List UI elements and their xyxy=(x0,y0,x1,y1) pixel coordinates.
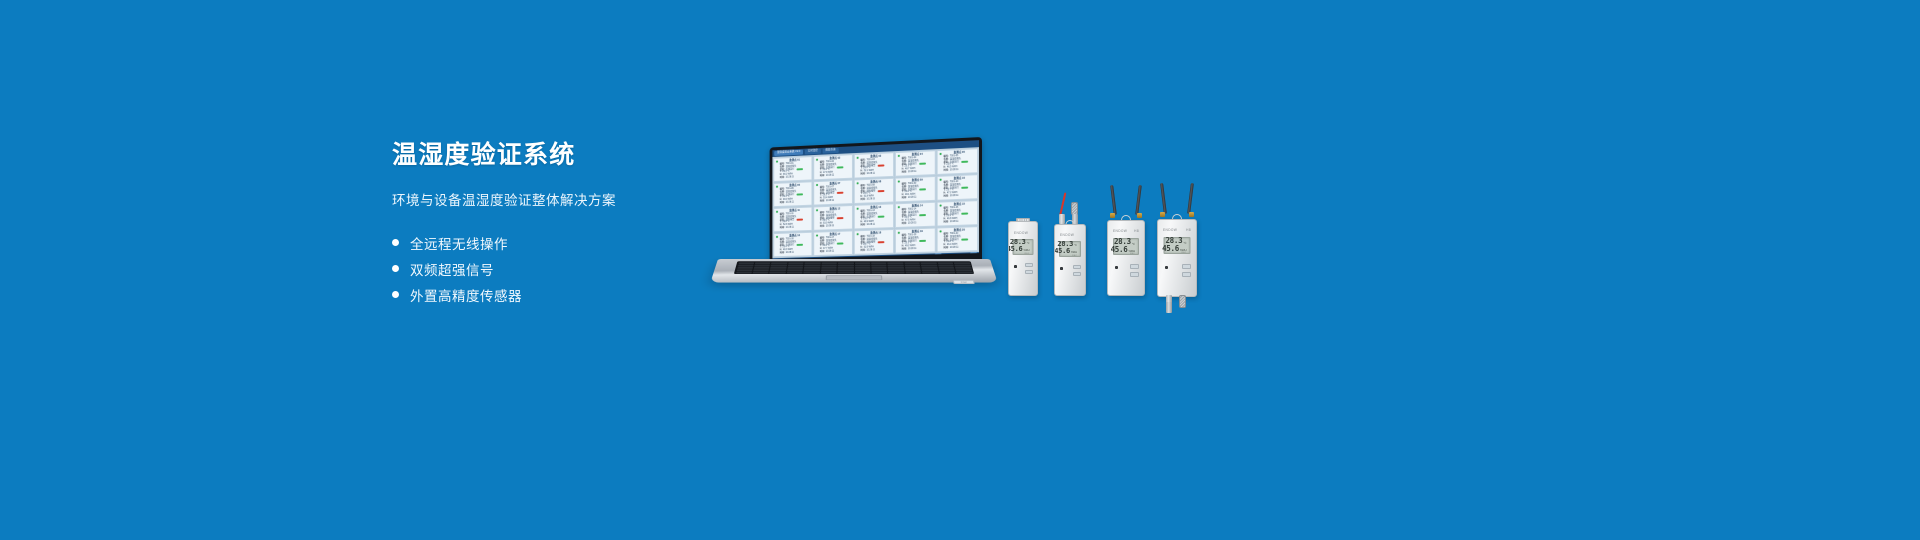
card-status-led-icon xyxy=(776,236,778,238)
laptop-spec-badge: Intel xyxy=(953,280,975,284)
keyboard-key[interactable] xyxy=(821,271,837,273)
lcd-humidity-value: 45.6 xyxy=(1111,246,1128,254)
sensor-field-label: 时间: xyxy=(780,202,785,205)
keyboard-key[interactable] xyxy=(753,271,769,273)
sensor-field-label: 时间: xyxy=(902,197,907,200)
antenna-right-icon xyxy=(1135,185,1142,215)
sensor-field-value: 10:28:11 xyxy=(786,227,794,230)
card-status-led-icon xyxy=(856,157,858,159)
sensor-card-row: 时间:10:28:11 xyxy=(780,226,810,230)
tab-realtime-monitor[interactable]: 实时监控 xyxy=(805,149,821,154)
page-title: 温湿度验证系统 xyxy=(392,140,722,171)
probe-cable-icon xyxy=(1059,192,1066,216)
keyboard-key[interactable] xyxy=(939,271,955,273)
sensor-field-value: 10:28:11 xyxy=(867,198,875,201)
keyboard-key[interactable] xyxy=(956,271,972,273)
card-status-led-icon xyxy=(776,211,778,213)
sensor-card[interactable]: 监测点 12编号:T001-12名称:温湿度探头状态:超限报警T:29.0 ℃H… xyxy=(813,205,853,231)
sensor-card-row: 时间:10:28:11 xyxy=(861,198,892,202)
sensor-field-value: 10:28:11 xyxy=(908,197,917,200)
device-button-down[interactable] xyxy=(1130,272,1139,277)
status-badge-alarm xyxy=(796,218,803,220)
laptop-trackpad[interactable] xyxy=(826,275,883,280)
feature-label: 双频超强信号 xyxy=(410,259,494,279)
laptop-product-image: 温湿度验证系统 V2.0 实时监控 数据查询 监测点 01编号:T001-01名… xyxy=(718,137,990,299)
status-badge-ok xyxy=(836,242,843,244)
antenna-left-icon xyxy=(1160,183,1167,214)
lcd-footer-label: REC xyxy=(1167,252,1187,254)
status-badge-ok xyxy=(836,166,843,168)
card-status-led-icon xyxy=(816,184,818,186)
sensor-field-value: 10:28:11 xyxy=(867,249,875,252)
sensor-field-label: 时间: xyxy=(861,173,866,176)
card-status-led-icon xyxy=(856,208,858,210)
status-badge-alarm xyxy=(877,190,884,192)
sensor-field-label: 时间: xyxy=(780,227,785,230)
sensor-field-value: 10:28:11 xyxy=(786,176,794,179)
sensor-card-grid: 监测点 01编号:T001-01名称:温湿度探头状态:在线运行T:23.4 ℃H… xyxy=(772,147,979,258)
sensor-field-label: 时间: xyxy=(861,250,866,253)
sensor-card-row: 时间:10:28:11 xyxy=(944,246,976,250)
sensor-field-label: 时间: xyxy=(861,199,866,202)
sensor-field-label: 时间: xyxy=(861,224,866,227)
lcd-footer-label: REC xyxy=(1116,253,1135,255)
device-button-down[interactable] xyxy=(1182,272,1191,277)
sensor-card-row: 时间:10:28:11 xyxy=(780,251,810,255)
sensor-card-row: 时间:10:28:11 xyxy=(820,199,850,203)
lcd-humidity-value: 45.6 xyxy=(1054,248,1070,255)
laptop-base: Intel xyxy=(710,259,997,283)
sensor-card[interactable]: 监测点 09编号:T001-09名称:温湿度探头状态:在线运行T:23.0 ℃H… xyxy=(895,176,936,202)
laptop-keyboard[interactable] xyxy=(734,261,974,274)
status-badge-ok xyxy=(961,186,968,188)
sensor-field-value: 10:28:11 xyxy=(908,248,917,251)
sensor-field-value: 10:28:11 xyxy=(867,173,875,176)
status-badge-ok xyxy=(961,238,968,240)
sensor-field-value: 10:28:11 xyxy=(950,221,959,224)
card-status-led-icon xyxy=(856,233,858,235)
sensor-card[interactable]: 监测点 08编号:T001-08名称:温湿度探头状态:超限报警T:28.5 ℃H… xyxy=(854,178,894,204)
sensor-field-label: 时间: xyxy=(944,221,949,224)
card-status-led-icon xyxy=(939,205,941,207)
card-status-led-icon xyxy=(897,181,899,183)
keyboard-key[interactable] xyxy=(905,271,921,273)
sensor-card[interactable]: 监测点 18编号:T001-18名称:温湿度探头状态:超限报警T:28.7 ℃H… xyxy=(854,229,894,255)
keyboard-key[interactable] xyxy=(736,271,752,273)
sensor-card-row: 时间:10:28:11 xyxy=(902,170,933,174)
sensor-card[interactable]: 监测点 16编号:T001-16名称:温湿度探头状态:在线运行T:23.4 ℃H… xyxy=(773,232,812,257)
sensor-card[interactable]: 监测点 11编号:T001-11名称:温湿度探头状态:超限报警T:28.8 ℃H… xyxy=(773,207,812,233)
device-button-up[interactable] xyxy=(1182,264,1191,269)
sensor-card[interactable]: 监测点 19编号:T001-19名称:温湿度探头状态:在线运行T:23.1 ℃H… xyxy=(895,228,936,254)
device-logger-external-probe: ENDOW 28.3 ℃ 45.6 %RH REC xyxy=(1053,192,1087,296)
device-wireless-logger-1: ENDOW H8 28.3 ℃ 45.6 %RH REC xyxy=(1105,185,1147,296)
sensor-card-row: 时间:10:28:11 xyxy=(861,223,892,227)
sensor-field-label: 时间: xyxy=(902,248,907,251)
device-brand-left: ENDOW xyxy=(1014,231,1028,235)
card-status-led-icon xyxy=(897,232,899,234)
product-banner: 温湿度验证系统 环境与设备温湿度验证整体解决方案 全远程无线操作 双频超强信号 … xyxy=(0,0,1920,540)
sensor-field-value: 10:28:11 xyxy=(826,200,834,203)
sensor-field-value: 10:28:11 xyxy=(826,251,834,254)
sensor-card-row: 时间:10:28:11 xyxy=(820,250,850,254)
sensor-field-value: 10:28:11 xyxy=(950,169,959,172)
list-item: 全远程无线操作 xyxy=(392,230,722,255)
page-subtitle: 环境与设备温湿度验证整体解决方案 xyxy=(392,189,722,209)
status-badge-ok xyxy=(961,212,968,214)
sensor-field-value: 10:28:11 xyxy=(786,202,794,205)
sensor-card[interactable]: 监测点 03编号:T001-03名称:温湿度探头状态:超限报警T:28.9 ℃H… xyxy=(854,152,894,178)
probe-connector-icon xyxy=(1059,214,1065,224)
device-button-down[interactable] xyxy=(1073,272,1081,276)
lcd-humidity-value: 45.6 xyxy=(1008,246,1022,253)
sensor-field-label: 时间: xyxy=(820,200,825,203)
keyboard-key[interactable] xyxy=(787,271,803,273)
antenna-left-icon xyxy=(1110,185,1117,215)
device-lcd-display: 28.3 ℃ 45.6 %RH REC xyxy=(1113,238,1139,255)
status-badge-ok xyxy=(919,240,926,242)
sensor-card[interactable]: 监测点 07编号:T001-07名称:温湿度探头状态:超限报警T:29.2 ℃H… xyxy=(813,180,853,206)
device-lcd-display: 28.3 ℃ 45.6 %RH REC xyxy=(1164,237,1191,254)
feature-label: 外置高精度传感器 xyxy=(410,285,522,305)
status-badge-ok xyxy=(796,193,803,195)
sensor-card[interactable]: 监测点 01编号:T001-01名称:温湿度探头状态:在线运行T:23.4 ℃H… xyxy=(773,156,812,182)
sensor-card-row: 时间:10:28:11 xyxy=(944,220,976,224)
sensor-field-value: 10:28:11 xyxy=(826,175,834,178)
sensor-field-value: 10:28:11 xyxy=(786,252,794,255)
sensor-field-value: 10:28:11 xyxy=(867,224,875,227)
sensor-card-row: 时间:10:28:11 xyxy=(902,222,933,226)
status-badge-ok xyxy=(796,168,803,170)
device-brand-left: ENDOW xyxy=(1113,229,1127,233)
device-button-up[interactable] xyxy=(1025,263,1033,267)
antenna-right-icon xyxy=(1187,183,1194,214)
sensor-card-row: 时间:10:28:11 xyxy=(820,225,850,229)
sensor-field-value: 10:28:11 xyxy=(908,222,917,225)
keyboard-key[interactable] xyxy=(838,271,854,273)
device-status-led-icon xyxy=(1165,266,1168,269)
card-status-led-icon xyxy=(776,186,778,188)
status-badge-ok xyxy=(919,162,926,164)
card-status-led-icon xyxy=(897,155,899,157)
lcd-footer-label: REC xyxy=(1062,255,1077,257)
sensor-field-label: 时间: xyxy=(780,177,785,180)
keyboard-key[interactable] xyxy=(855,271,871,273)
keyboard-key[interactable] xyxy=(888,271,904,273)
card-status-led-icon xyxy=(816,159,818,161)
sensor-card[interactable]: 监测点 20编号:T001-20名称:温湿度探头状态:在线运行T:23.8 ℃H… xyxy=(937,226,978,252)
device-data-logger-basic: ENDOW 28.3 ℃ 45.6 %RH REC xyxy=(1008,218,1038,296)
laptop-lid: 温湿度验证系统 V2.0 实时监控 数据查询 监测点 01编号:T001-01名… xyxy=(770,137,982,268)
sensor-card[interactable]: 监测点 13编号:T001-13名称:温湿度探头状态:在线运行T:23.2 ℃H… xyxy=(854,203,894,229)
status-badge-alarm xyxy=(836,217,843,219)
sensor-field-label: 时间: xyxy=(820,226,825,229)
device-brand-right: H8 xyxy=(1186,228,1191,232)
tab-data-query[interactable]: 数据查询 xyxy=(823,148,839,153)
card-status-led-icon xyxy=(816,235,818,237)
keyboard-key[interactable] xyxy=(871,271,887,273)
keyboard-key[interactable] xyxy=(770,271,786,273)
device-status-led-icon xyxy=(1115,266,1118,269)
sensor-card-row: 时间:10:28:11 xyxy=(902,248,933,252)
device-lcd-display: 28.3 ℃ 45.6 %RH REC xyxy=(1059,241,1081,257)
sensor-card[interactable]: 监测点 17编号:T001-17名称:温湿度探头状态:在线运行T:23.6 ℃H… xyxy=(813,230,853,256)
status-badge-alarm xyxy=(877,241,884,243)
bullet-dot-icon xyxy=(392,239,399,246)
card-status-led-icon xyxy=(939,230,941,232)
sensor-card-row: 时间:10:28:11 xyxy=(780,201,810,205)
sensor-card-row: 时间:10:28:11 xyxy=(902,196,933,200)
sensor-field-value: 10:28:11 xyxy=(908,171,917,174)
feature-list: 全远程无线操作 双频超强信号 外置高精度传感器 xyxy=(392,230,722,307)
sensor-card-row: 时间:10:28:11 xyxy=(780,176,810,180)
keyboard-key[interactable] xyxy=(922,271,938,273)
status-badge-ok xyxy=(796,244,803,246)
card-status-led-icon xyxy=(776,161,778,163)
status-badge-ok xyxy=(919,214,926,216)
card-status-led-icon xyxy=(939,153,941,155)
device-wireless-logger-2: ENDOW H8 28.3 ℃ 45.6 %RH REC xyxy=(1155,183,1199,315)
device-brand-left: ENDOW xyxy=(1163,228,1177,232)
lcd-humidity-value: 45.6 xyxy=(1162,245,1179,253)
sensor-field-label: 时间: xyxy=(944,247,949,250)
feature-label: 全远程无线操作 xyxy=(410,233,508,253)
sensor-field-label: 时间: xyxy=(902,223,907,226)
sensor-field-label: 时间: xyxy=(902,171,907,174)
sensor-card[interactable]: 监测点 15编号:T001-15名称:温湿度探头状态:在线运行T:23.9 ℃H… xyxy=(937,200,978,226)
sensor-card-row: 时间:10:28:11 xyxy=(944,194,976,198)
sensor-card-row: 时间:10:28:11 xyxy=(861,249,892,253)
sensor-field-label: 时间: xyxy=(780,252,785,255)
device-button-up[interactable] xyxy=(1130,264,1139,269)
sensor-field-value: 10:28:11 xyxy=(826,225,834,228)
device-lcd-display: 28.3 ℃ 45.6 %RH REC xyxy=(1013,239,1034,255)
banner-text-block: 温湿度验证系统 环境与设备温湿度验证整体解决方案 全远程无线操作 双频超强信号 … xyxy=(392,140,722,308)
laptop-screen: 温湿度验证系统 V2.0 实时监控 数据查询 监测点 01编号:T001-01名… xyxy=(772,140,979,259)
antenna-base-left-icon xyxy=(1160,212,1165,217)
keyboard-key[interactable] xyxy=(804,271,820,273)
device-status-led-icon xyxy=(1014,265,1017,268)
status-badge-ok xyxy=(961,161,968,163)
sensor-card[interactable]: 监测点 14编号:T001-14名称:温湿度探头状态:在线运行T:23.5 ℃H… xyxy=(895,202,936,228)
sensor-card[interactable]: 监测点 10编号:T001-10名称:温湿度探头状态:在线运行T:23.7 ℃H… xyxy=(937,174,978,201)
status-badge-ok xyxy=(877,215,884,217)
sensor-card-row: 时间:10:28:11 xyxy=(820,174,850,178)
bottom-probe-stem-icon xyxy=(1166,302,1172,313)
card-status-led-icon xyxy=(939,179,941,181)
list-item: 双频超强信号 xyxy=(392,256,722,281)
status-badge-alarm xyxy=(877,164,884,166)
lcd-footer-label: REC xyxy=(1016,253,1030,255)
device-status-led-icon xyxy=(1060,267,1063,270)
bullet-dot-icon xyxy=(392,291,399,298)
sensor-card[interactable]: 监测点 02编号:T001-02名称:温湿度探头状态:在线运行T:23.6 ℃H… xyxy=(813,154,853,180)
card-status-led-icon xyxy=(856,182,858,184)
device-brand-left: ENDOW xyxy=(1060,233,1074,237)
sensor-card[interactable]: 监测点 05编号:T001-05名称:温湿度探头状态:在线运行T:23.8 ℃H… xyxy=(937,148,978,175)
sensor-field-value: 10:28:11 xyxy=(950,195,959,198)
status-badge-alarm xyxy=(836,192,843,194)
sensor-field-label: 时间: xyxy=(820,175,825,178)
device-button-up[interactable] xyxy=(1073,265,1081,269)
card-status-led-icon xyxy=(897,206,899,208)
device-button-down[interactable] xyxy=(1025,270,1033,274)
status-badge-ok xyxy=(919,188,926,190)
sensor-field-label: 时间: xyxy=(944,195,949,198)
sensor-field-value: 10:28:11 xyxy=(950,247,959,250)
sensor-field-label: 时间: xyxy=(820,251,825,254)
bottom-probe-sensor-cap-icon xyxy=(1179,295,1186,308)
antenna-base-left-icon xyxy=(1110,213,1115,218)
sensor-field-label: 时间: xyxy=(944,170,949,173)
card-status-led-icon xyxy=(816,209,818,211)
device-brand-right: H8 xyxy=(1134,229,1139,233)
sensor-card-row: 时间:10:28:11 xyxy=(944,168,976,172)
antenna-base-right-icon xyxy=(1137,213,1142,218)
sensor-card-row: 时间:10:28:11 xyxy=(861,172,892,176)
antenna-base-right-icon xyxy=(1189,212,1194,217)
sensor-card[interactable]: 监测点 04编号:T001-04名称:温湿度探头状态:在线运行T:23.1 ℃H… xyxy=(895,150,936,177)
sensor-card[interactable]: 监测点 06编号:T001-06名称:温湿度探头状态:在线运行T:23.3 ℃H… xyxy=(773,181,812,207)
bullet-dot-icon xyxy=(392,265,399,272)
list-item: 外置高精度传感器 xyxy=(392,282,722,307)
